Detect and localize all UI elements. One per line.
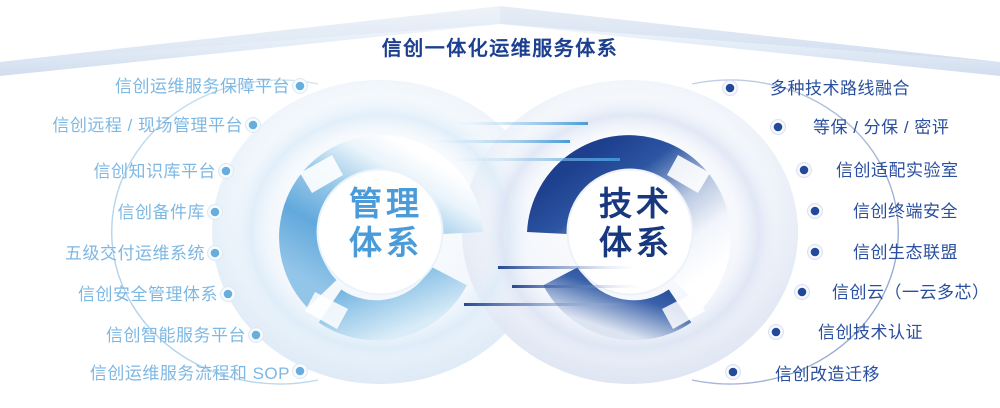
node-dot	[771, 120, 786, 135]
node-dot	[246, 118, 261, 133]
right-label-7[interactable]: 信创改造迁移	[775, 366, 880, 383]
left-label-3-text: 信创备件库	[118, 203, 206, 222]
right-label-2-text: 信创适配实验室	[836, 161, 959, 180]
right-label-0[interactable]: 多种技术路线融合	[770, 80, 910, 97]
node-dot	[808, 245, 823, 260]
left-core-label: 管理 体系	[306, 185, 466, 263]
node-dot	[795, 285, 810, 300]
right-label-5[interactable]: 信创云（一云多芯）	[832, 284, 990, 301]
left-label-0-text: 信创运维服务保障平台	[115, 77, 290, 96]
node-dot	[797, 163, 812, 178]
left-label-6[interactable]: 信创智能服务平台	[106, 327, 246, 344]
left-label-5-text: 信创安全管理体系	[78, 285, 218, 304]
right-label-7-text: 信创改造迁移	[775, 365, 880, 384]
right-label-4-text: 信创生态联盟	[853, 243, 958, 262]
right-label-6[interactable]: 信创技术认证	[818, 324, 923, 341]
right-core-line2: 体系	[556, 224, 716, 263]
right-label-1[interactable]: 等保 / 分保 / 密评	[813, 119, 949, 136]
left-label-1-text: 信创远程 / 现场管理平台	[52, 116, 243, 135]
node-dot	[293, 364, 308, 379]
node-dot	[808, 204, 823, 219]
left-label-3[interactable]: 信创备件库	[118, 204, 206, 221]
left-label-7-text: 信创运维服务流程和 SOP	[90, 364, 290, 383]
right-label-4[interactable]: 信创生态联盟	[853, 244, 958, 261]
right-label-3[interactable]: 信创终端安全	[853, 203, 958, 220]
right-core-label: 技术 体系	[556, 185, 716, 263]
left-label-1[interactable]: 信创远程 / 现场管理平台	[52, 117, 243, 134]
node-dot	[723, 81, 738, 96]
node-dot	[769, 325, 784, 340]
left-label-7[interactable]: 信创运维服务流程和 SOP	[90, 365, 290, 382]
page-title: 信创一体化运维服务体系	[0, 32, 1000, 61]
right-core-line1: 技术	[556, 185, 716, 224]
left-label-5[interactable]: 信创安全管理体系	[78, 286, 218, 303]
node-dot	[221, 287, 236, 302]
left-label-4[interactable]: 五级交付运维系统	[65, 245, 205, 262]
node-dot	[208, 205, 223, 220]
left-label-2[interactable]: 信创知识库平台	[94, 163, 217, 180]
left-label-6-text: 信创智能服务平台	[106, 326, 246, 345]
left-core-line2: 体系	[306, 224, 466, 263]
right-label-1-text: 等保 / 分保 / 密评	[813, 118, 949, 137]
right-label-6-text: 信创技术认证	[818, 323, 923, 342]
node-dot	[293, 79, 308, 94]
node-dot	[726, 365, 741, 380]
right-label-5-text: 信创云（一云多芯）	[832, 283, 990, 302]
left-label-4-text: 五级交付运维系统	[65, 244, 205, 263]
left-label-0[interactable]: 信创运维服务保障平台	[115, 78, 290, 95]
right-label-0-text: 多种技术路线融合	[770, 79, 910, 98]
right-label-3-text: 信创终端安全	[853, 202, 958, 221]
node-dot	[249, 328, 264, 343]
node-dot	[219, 164, 234, 179]
infographic-canvas: 信创一体化运维服务体系 信创运维服务保障平台 信创远程 / 现场管理平台 信创知…	[0, 0, 1000, 408]
node-dot	[208, 246, 223, 261]
right-label-2[interactable]: 信创适配实验室	[836, 162, 959, 179]
left-label-2-text: 信创知识库平台	[94, 162, 217, 181]
left-core-line1: 管理	[306, 185, 466, 224]
